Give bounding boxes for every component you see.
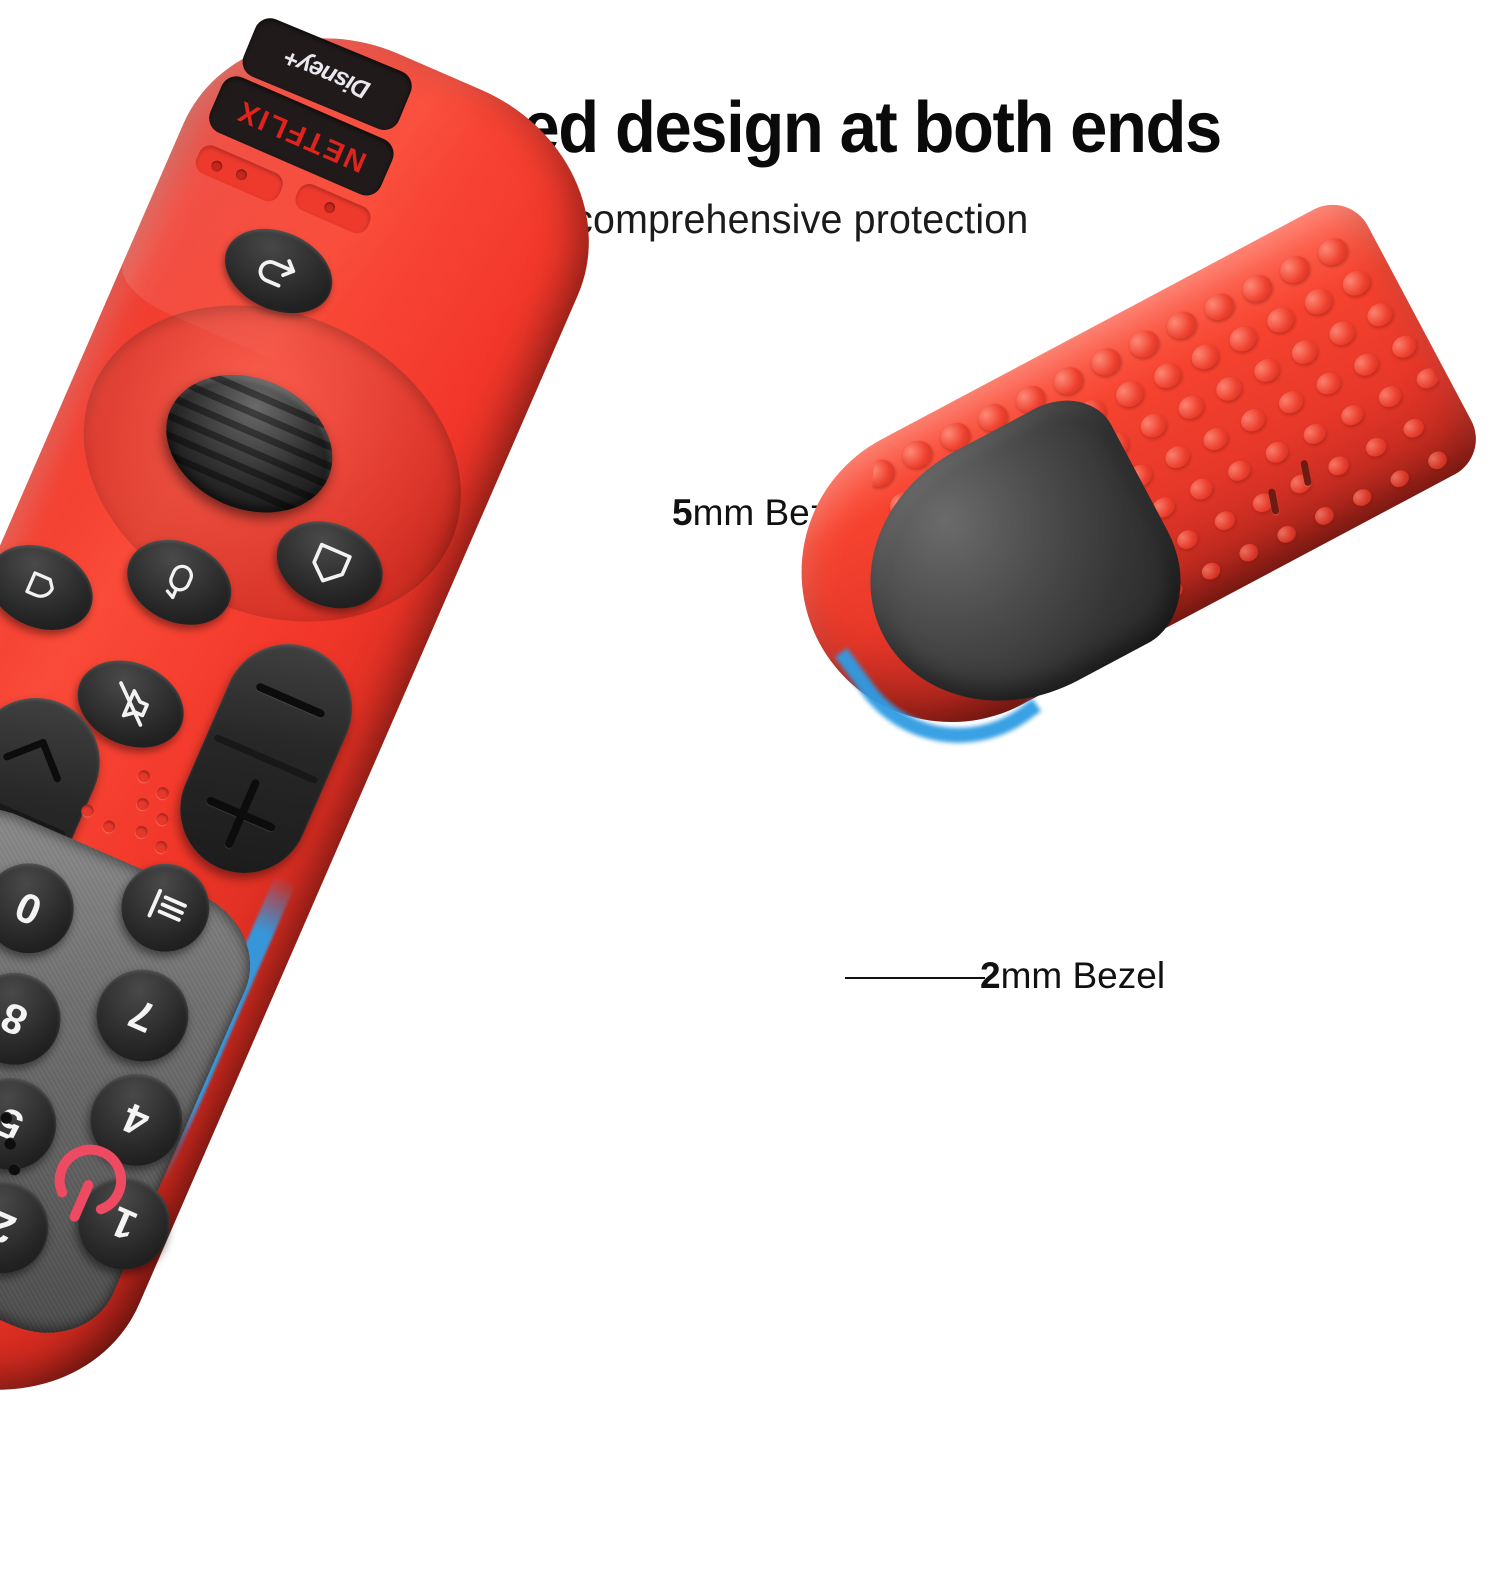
key-0[interactable]: 0 — [0, 849, 88, 967]
mute-icon — [100, 674, 161, 735]
key-0-label: 0 — [8, 882, 49, 935]
callout-2mm-unit: mm Bezel — [1001, 955, 1165, 996]
key-4-label: 4 — [116, 1093, 157, 1146]
key-7[interactable]: 7 — [82, 955, 203, 1076]
key-7-label: 7 — [122, 989, 163, 1042]
callout-2mm-bezel: 2mm Bezel — [980, 955, 1165, 997]
leader-line-2mm — [845, 977, 985, 979]
chevron-up-icon — [0, 721, 77, 790]
remote-control-product: Disney+ NETFLIX — [0, 0, 835, 1587]
settings-icon — [150, 553, 208, 611]
home-icon — [299, 535, 360, 596]
key-2-label: 2 — [0, 1201, 23, 1254]
key-8[interactable]: 8 — [0, 958, 75, 1079]
back-icon — [248, 241, 309, 302]
key-8-label: 8 — [0, 992, 35, 1045]
list-icon — [135, 877, 196, 938]
search-icon — [12, 559, 70, 617]
